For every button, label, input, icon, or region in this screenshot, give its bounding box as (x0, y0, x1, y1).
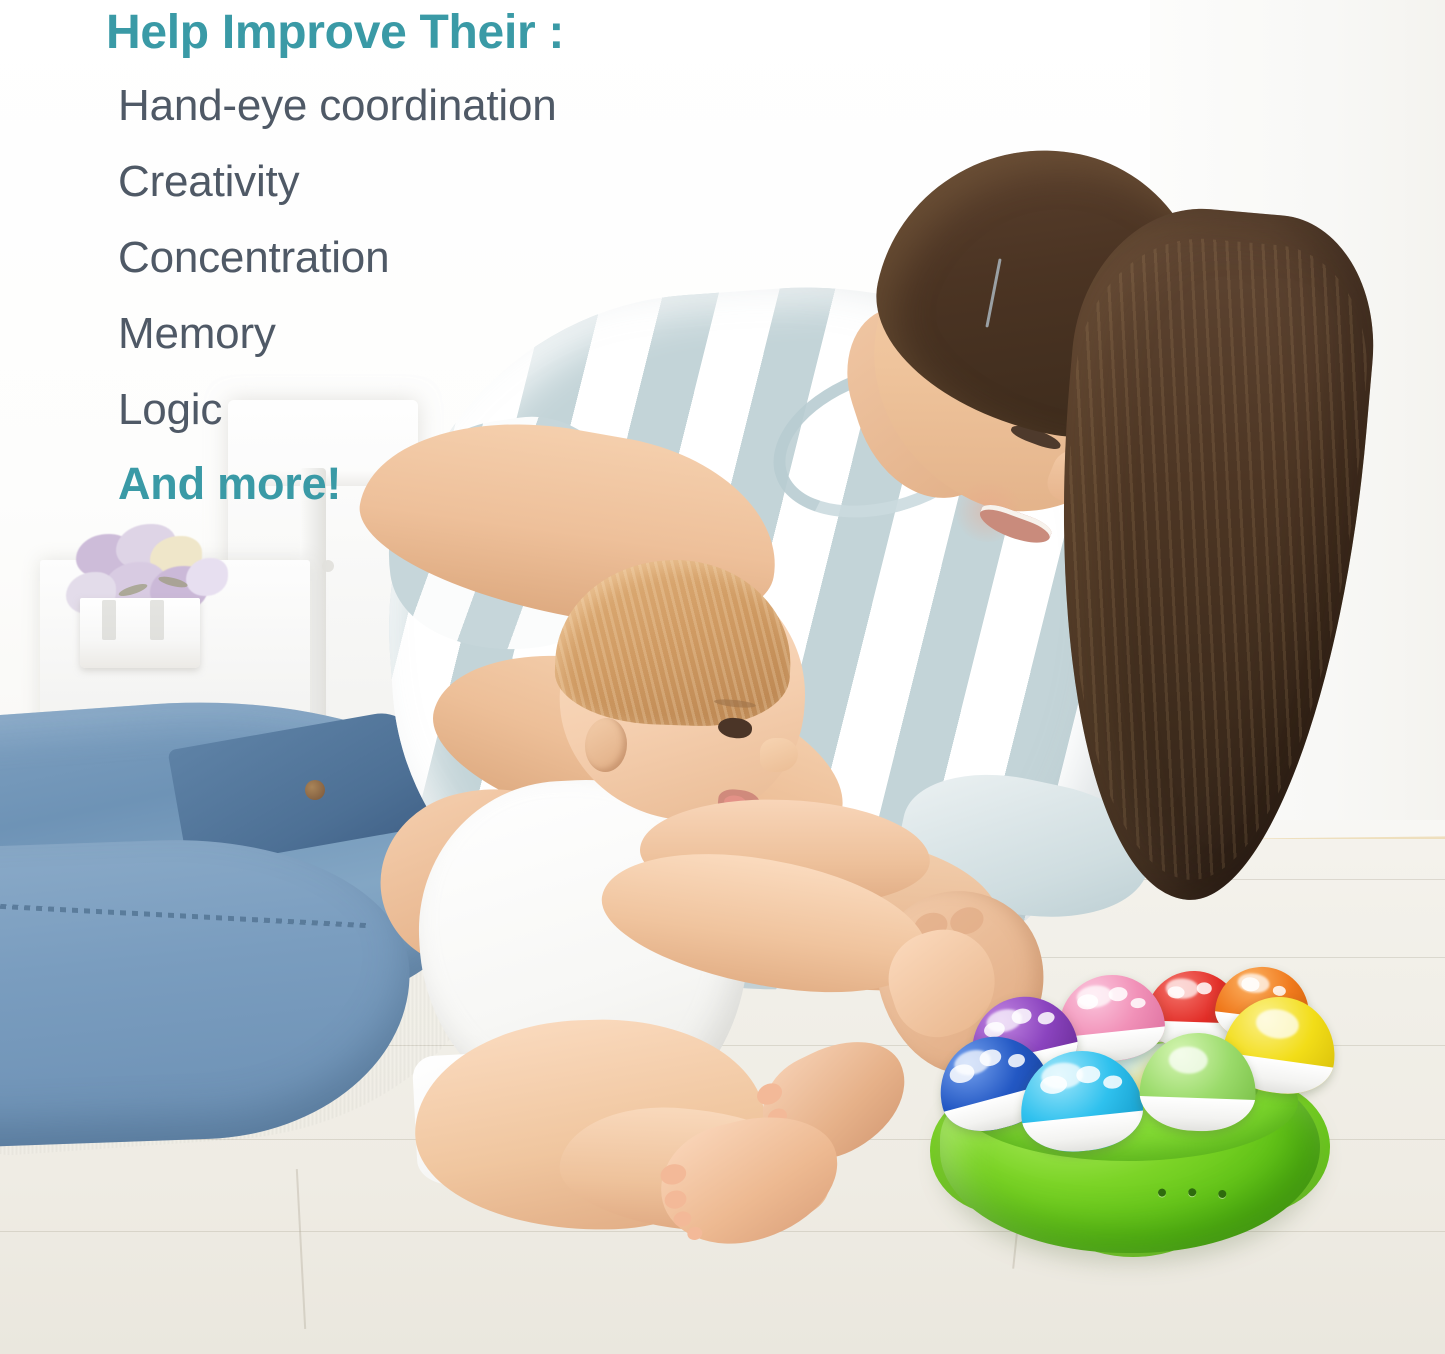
benefit-item-and-more: And more! (118, 448, 906, 520)
infographic-canvas: Help Improve Their : Hand-eye coordinati… (0, 0, 1445, 1354)
benefit-list: Hand-eye coordination Creativity Concent… (106, 68, 906, 520)
flower-vase (80, 598, 200, 668)
benefit-item-creativity: Creativity (118, 144, 906, 220)
benefit-item-memory: Memory (118, 296, 906, 372)
benefit-item-concentration: Concentration (118, 220, 906, 296)
page-title: Help Improve Their : (106, 2, 906, 64)
benefit-item-logic: Logic (118, 372, 906, 448)
benefits-text-block: Help Improve Their : Hand-eye coordinati… (106, 2, 906, 520)
benefit-item-hand-eye-coordination: Hand-eye coordination (118, 68, 906, 144)
mushroom-pop-up-toy[interactable] (930, 975, 1330, 1265)
